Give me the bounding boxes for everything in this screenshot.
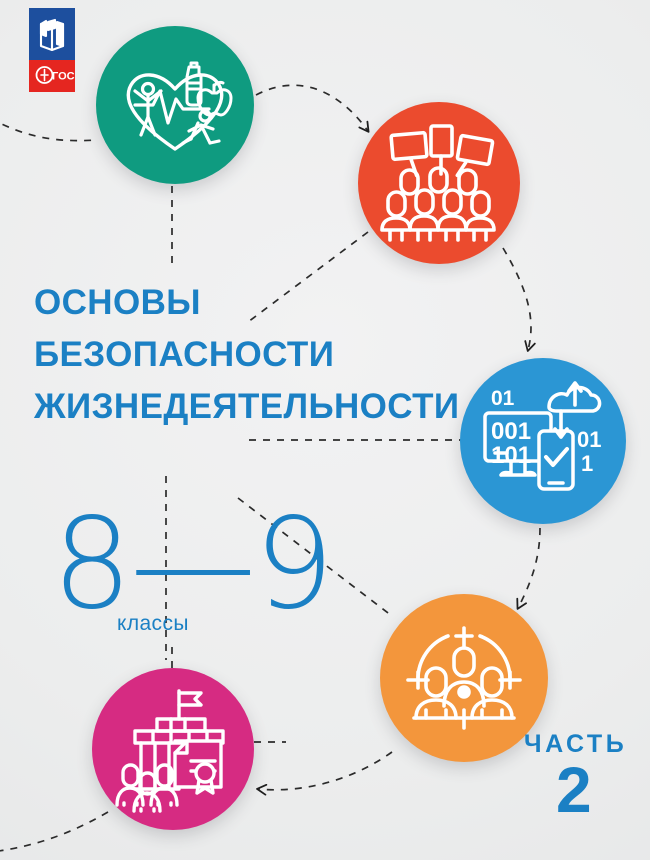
- page-title: ОСНОВЫ БЕЗОПАСНОСТИ ЖИЗНЕДЕЯТЕЛЬНОСТИ: [34, 277, 459, 433]
- title-line-3: ЖИЗНЕДЕЯТЕЛЬНОСТИ: [34, 381, 459, 433]
- grade-label: классы: [117, 612, 189, 636]
- textbook-cover: ГОС: [0, 0, 650, 860]
- binary-01-top: 01: [491, 387, 515, 410]
- binary-1-right: 1: [581, 451, 593, 476]
- binary-001: 001: [491, 418, 531, 445]
- binary-101: 101: [491, 442, 531, 469]
- fgos-emblem: ГОС: [37, 67, 75, 83]
- title-line-1: ОСНОВЫ: [34, 277, 459, 329]
- grade-number: 8—9: [52, 505, 332, 623]
- icon-circle-healthy-lifestyle: [96, 26, 254, 184]
- publisher-logo: ГОС: [29, 8, 75, 92]
- title-line-2: БЕЗОПАСНОСТИ: [34, 329, 459, 381]
- publisher-book-icon: [41, 20, 63, 50]
- part-number: 2: [556, 758, 592, 822]
- svg-text:ГОС: ГОС: [52, 71, 75, 83]
- icon-circle-crowd-protest: [358, 102, 520, 264]
- icon-circle-terrorism-threat: [380, 594, 548, 762]
- binary-01-right: 01: [577, 427, 601, 452]
- icon-circle-state-institutions: [92, 668, 254, 830]
- icon-circle-information-security: 01 001 101 01 1: [460, 358, 626, 524]
